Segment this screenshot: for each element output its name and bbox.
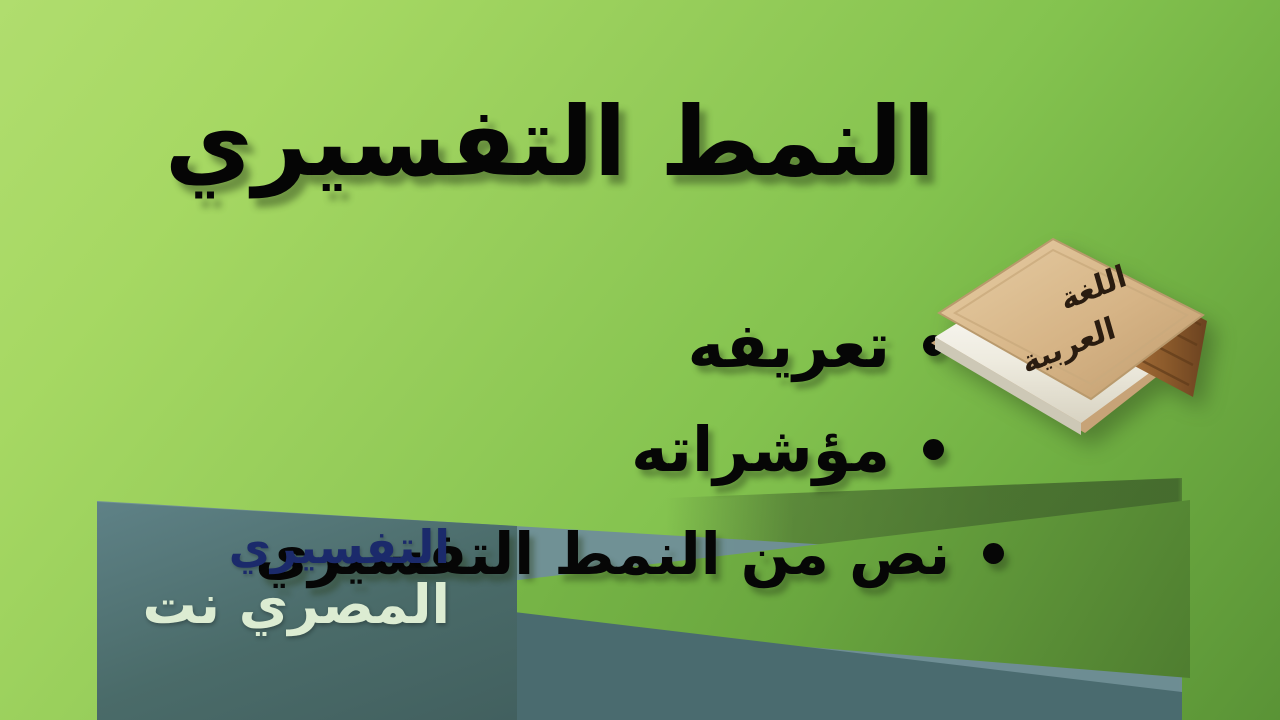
book-icon: اللغة العربية bbox=[925, 165, 1225, 475]
list-item: مؤشراته bbox=[390, 398, 950, 502]
watermark-line-2: المصري نت bbox=[110, 578, 450, 632]
watermark: التفسيري المصري نت bbox=[110, 524, 450, 632]
list-item-label: تعريفه bbox=[688, 309, 890, 382]
bullet-list: تعريفه مؤشراته نص من النمط التفسيري bbox=[390, 294, 950, 606]
list-item: تعريفه bbox=[390, 294, 950, 398]
watermark-line-1: التفسيري bbox=[110, 524, 450, 570]
book-illustration: اللغة العربية bbox=[925, 165, 1225, 475]
bullet-dot-icon bbox=[983, 543, 1004, 564]
slide-canvas: النمط التفسيري تعريفه مؤشراته نص من النم… bbox=[0, 0, 1280, 720]
list-item-label: مؤشراته bbox=[631, 413, 890, 486]
page-title: النمط التفسيري bbox=[140, 86, 960, 199]
